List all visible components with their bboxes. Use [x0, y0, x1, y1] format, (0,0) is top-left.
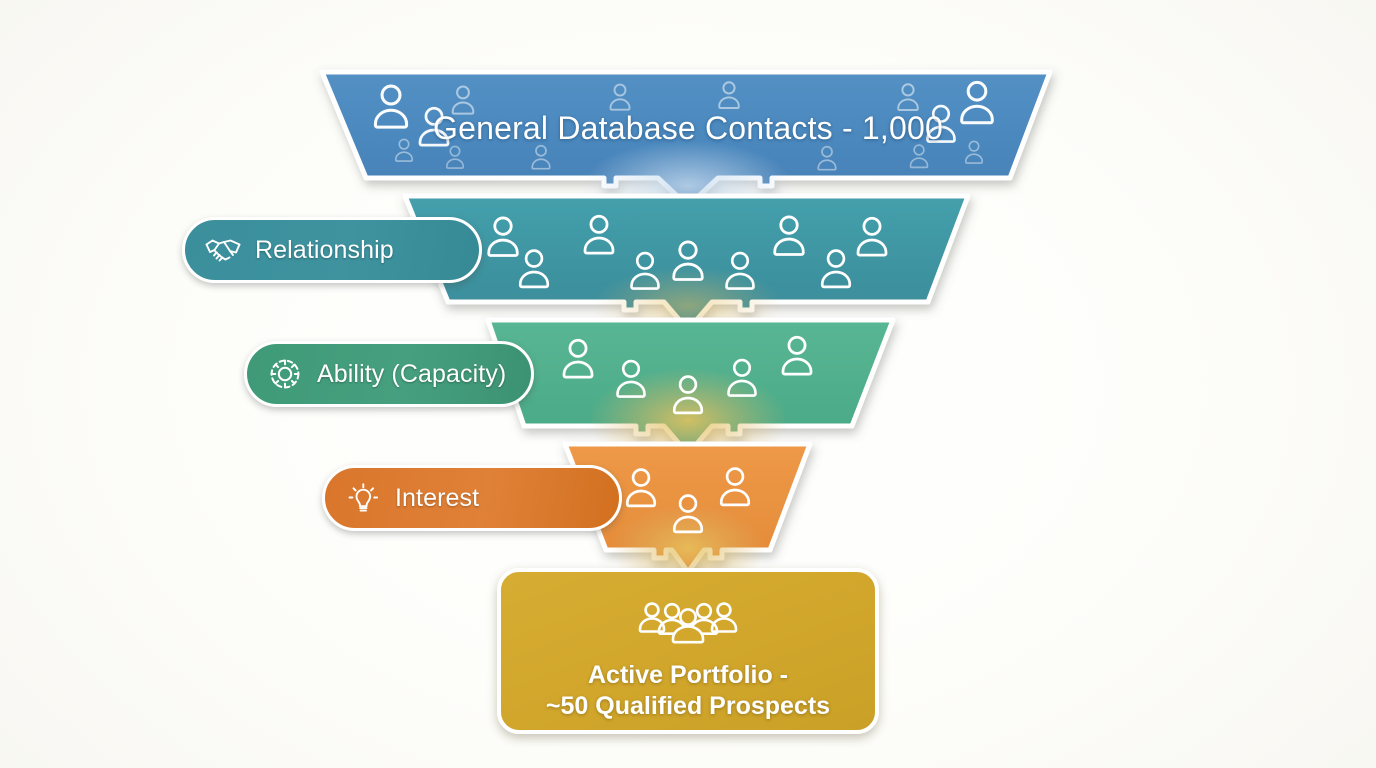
goal-line-2: ~50 Qualified Prospects [546, 691, 830, 722]
lightbulb-icon [343, 478, 383, 518]
people-group-icon [634, 598, 742, 650]
goal-card-active-portfolio[interactable]: Active Portfolio - ~50 Qualified Prospec… [497, 568, 879, 734]
stage-label-relationship[interactable]: Relationship [182, 217, 482, 283]
stage-label-text: Ability (Capacity) [317, 360, 506, 389]
goal-line-1: Active Portfolio - [588, 661, 788, 689]
stage-label-ability[interactable]: Ability (Capacity) [244, 341, 534, 407]
stage-label-interest[interactable]: Interest [322, 465, 622, 531]
gear-icon [265, 354, 305, 394]
handshake-icon [203, 230, 243, 270]
stage-label-text: Interest [395, 484, 479, 513]
goal-card-text: Active Portfolio - ~50 Qualified Prospec… [546, 660, 830, 723]
stage-label-text: Relationship [255, 236, 394, 265]
funnel-diagram: General Database Contacts - 1,000 Relati… [0, 0, 1376, 768]
